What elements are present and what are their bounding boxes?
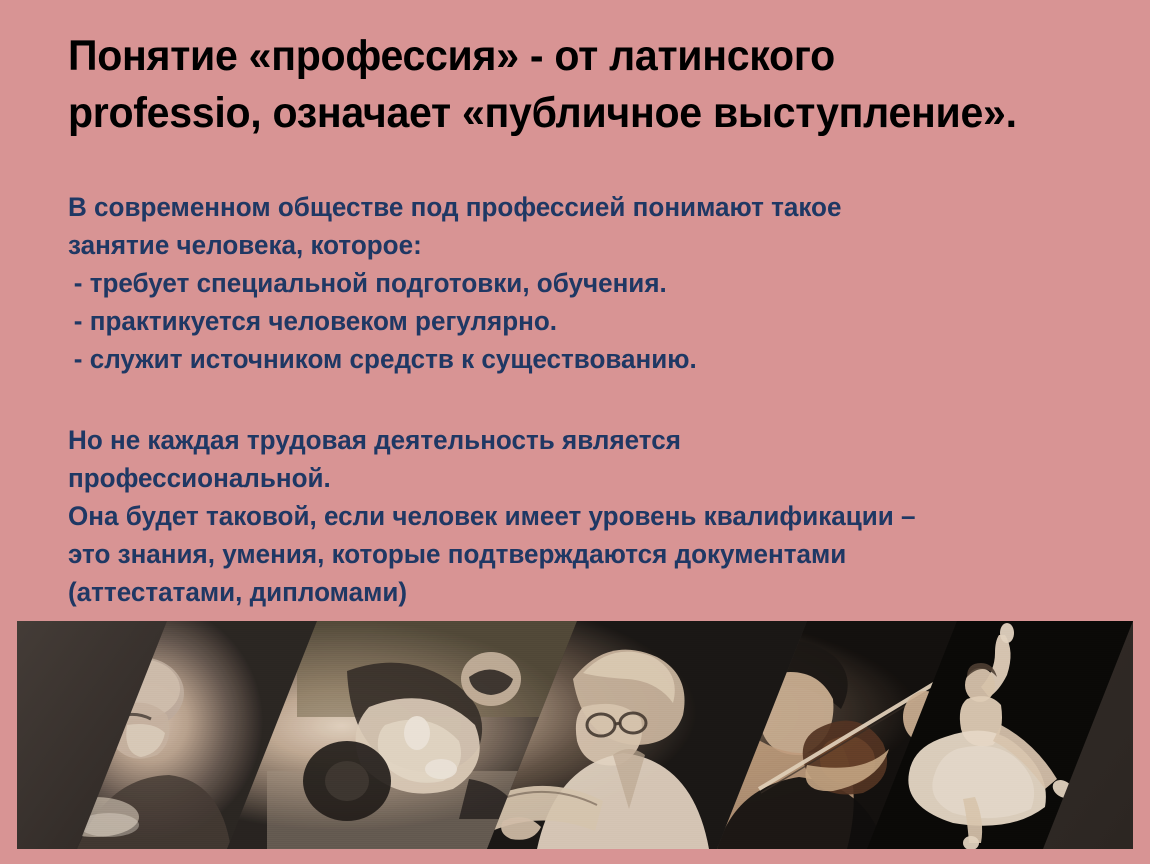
slide: Понятие «профессия» - от латинского prof… (0, 0, 1150, 864)
body-line-3: Но не каждая трудовая деятельность являе… (68, 421, 1072, 459)
body-line-6: это знания, умения, которые подтверждают… (68, 535, 1072, 573)
body-line-7: (аттестатами, дипломами) (68, 573, 1072, 611)
title-line-1: Понятие «профессия» - от латинского (68, 28, 1090, 85)
body-line-2: занятие человека, которое: (68, 226, 1072, 264)
body-line-5: Она будет таковой, если человек имеет ур… (68, 497, 1072, 535)
bullet-item-3: - служит источником средств к существова… (68, 340, 1072, 378)
photo-collage-strip (17, 621, 1133, 849)
body-line-1: В современном обществе под профессией по… (68, 188, 1072, 226)
bullet-item-2: - практикуется человеком регулярно. (68, 302, 1072, 340)
body-paragraph-one: В современном обществе под профессией по… (68, 188, 1108, 378)
bullet-item-1: - требует специальной подготовки, обучен… (68, 264, 1072, 302)
page-title: Понятие «профессия» - от латинского prof… (68, 28, 1138, 142)
title-line-2: professio, означает «публичное выступлен… (68, 85, 1090, 142)
body-paragraph-two: Но не каждая трудовая деятельность являе… (68, 421, 1108, 611)
body-line-4: профессиональной. (68, 459, 1072, 497)
